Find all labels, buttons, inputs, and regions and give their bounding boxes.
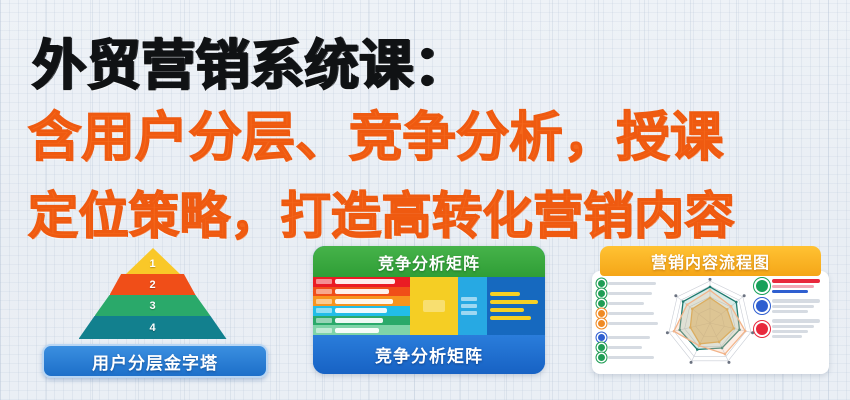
- headline-block: 外贸营销系统课： 含用户分层、竞争分析，授课 定位策略，打造高转化营销内容: [0, 0, 850, 240]
- radar-axis-marker: [709, 278, 712, 281]
- placeholder-text-bar: [608, 282, 656, 285]
- radar-list-item: [598, 310, 660, 317]
- matrix-blue-bar: [490, 316, 531, 320]
- matrix-row: [313, 296, 410, 306]
- legend-badge-icon: [756, 300, 768, 312]
- headline-line-1: 外贸营销系统课：: [32, 21, 468, 100]
- placeholder-text-bar: [608, 312, 654, 315]
- bullet-dot-icon: [598, 320, 605, 327]
- bullet-dot-icon: [598, 334, 605, 341]
- matrix-yellow-block: [423, 300, 445, 312]
- radar-axis-marker: [743, 294, 746, 297]
- matrix-row-tag: [316, 328, 332, 333]
- legend-badge-icon: [756, 280, 768, 292]
- placeholder-text-bar: [608, 346, 642, 349]
- matrix-blue-column: [487, 277, 545, 335]
- radar-header-title: 营销内容流程图: [600, 246, 821, 276]
- placeholder-text-bar: [608, 322, 658, 325]
- bullet-dot-icon: [598, 344, 605, 351]
- radar-list-item: [598, 334, 660, 341]
- legend-text-bars: [772, 319, 820, 338]
- radar-axis-marker: [690, 361, 693, 364]
- radar-axis-marker: [674, 294, 677, 297]
- matrix-row-bar: [335, 328, 379, 333]
- radar-data-point: [735, 301, 738, 304]
- bullet-dot-icon: [598, 280, 605, 287]
- card-marketing-flow[interactable]: 营销内容流程图: [592, 246, 829, 376]
- matrix-row-tag: [316, 289, 332, 294]
- radar-legend-list: [756, 279, 824, 342]
- radar-data-point: [709, 286, 712, 289]
- headline-line-3: 定位策略，打造高转化营销内容: [28, 176, 735, 248]
- placeholder-text-bar: [772, 285, 814, 288]
- matrix-cyan-line: [461, 297, 477, 301]
- card-user-pyramid[interactable]: 1 2 3 4 用户分层金字塔: [22, 244, 282, 396]
- matrix-row-bar: [335, 279, 395, 284]
- radar-legend-entry: [756, 279, 824, 293]
- matrix-row-tag: [316, 318, 332, 323]
- matrix-blue-bar: [490, 292, 520, 296]
- pyramid-caption-button[interactable]: 用户分层金字塔: [42, 344, 268, 378]
- pyramid-layer-1-label: 1: [149, 258, 157, 270]
- matrix-row: [313, 277, 410, 287]
- diagram-cards-row: 1 2 3 4 用户分层金字塔 竞争分析矩阵: [0, 240, 850, 400]
- placeholder-text-bar: [772, 290, 808, 293]
- matrix-row-tag: [316, 279, 332, 284]
- matrix-row-bar: [335, 308, 387, 313]
- matrix-row-bar: [335, 289, 389, 294]
- pyramid-layer-2: 2: [110, 274, 196, 295]
- placeholder-text-bar: [772, 335, 802, 338]
- radar-chart-svg: [660, 273, 760, 373]
- placeholder-text-bar: [608, 356, 654, 359]
- matrix-footer-title: 竞争分析矩阵: [313, 335, 545, 374]
- matrix-row-tag: [316, 308, 332, 313]
- placeholder-text-bar: [772, 305, 814, 308]
- radar-data-point: [673, 330, 676, 333]
- placeholder-text-bar: [772, 325, 814, 328]
- matrix-row-bar: [335, 299, 393, 304]
- radar-data-point: [709, 289, 712, 292]
- pyramid-layer-1: 1: [126, 248, 180, 274]
- pyramid-layer-4: 4: [79, 316, 227, 339]
- radar-list-item: [598, 300, 660, 307]
- matrix-blue-bar: [490, 308, 524, 312]
- radar-body: [592, 271, 829, 374]
- matrix-cyan-line: [461, 304, 477, 308]
- radar-left-list: [598, 280, 660, 361]
- legend-text-bars: [772, 299, 820, 313]
- legend-badge-icon: [756, 323, 768, 335]
- matrix-row: [313, 325, 410, 335]
- placeholder-text-bar: [772, 330, 808, 333]
- radar-data-point: [698, 344, 701, 347]
- matrix-yellow-column: [410, 277, 458, 335]
- matrix-row-tag: [316, 299, 332, 304]
- radar-data-point: [730, 305, 733, 308]
- radar-list-item: [598, 280, 660, 287]
- radar-data-point: [686, 303, 689, 306]
- bullet-dot-icon: [598, 310, 605, 317]
- radar-legend-entry: [756, 299, 824, 313]
- radar-axis-marker: [666, 331, 669, 334]
- legend-text-bars: [772, 279, 820, 293]
- radar-list-item: [598, 320, 660, 327]
- matrix-row: [313, 316, 410, 326]
- radar-axis-marker: [727, 361, 730, 364]
- bullet-dot-icon: [598, 300, 605, 307]
- placeholder-text-bar: [608, 302, 644, 305]
- placeholder-text-bar: [772, 319, 820, 323]
- radar-list-item: [598, 354, 660, 361]
- radar-list-item: [598, 290, 660, 297]
- radar-data-point: [724, 353, 727, 356]
- bullet-dot-icon: [598, 290, 605, 297]
- placeholder-text-bar: [608, 336, 650, 339]
- matrix-cyan-column: [458, 277, 487, 335]
- matrix-cyan-line: [461, 311, 477, 315]
- matrix-row-column: [313, 277, 410, 335]
- radar-data-point: [744, 330, 747, 333]
- radar-data-point: [696, 348, 699, 351]
- promo-banner: 外贸营销系统课： 含用户分层、竞争分析，授课 定位策略，打造高转化营销内容 1 …: [0, 0, 850, 400]
- radar-axis-marker: [751, 331, 754, 334]
- matrix-body: [313, 277, 545, 335]
- pyramid-graphic: 1 2 3 4: [80, 248, 225, 340]
- matrix-blue-bar: [490, 300, 538, 304]
- placeholder-text-bar: [772, 299, 820, 303]
- card-competition-matrix[interactable]: 竞争分析矩阵 竞争分析矩阵: [313, 246, 545, 374]
- matrix-header-title: 竞争分析矩阵: [313, 246, 545, 277]
- pyramid-layer-3: 3: [95, 295, 211, 316]
- radar-chart: [660, 273, 760, 373]
- placeholder-text-bar: [608, 292, 652, 295]
- matrix-row: [313, 287, 410, 297]
- matrix-row: [313, 306, 410, 316]
- placeholder-text-bar: [772, 279, 820, 283]
- matrix-row-bar: [335, 318, 383, 323]
- radar-list-item: [598, 344, 660, 351]
- bullet-dot-icon: [598, 354, 605, 361]
- headline-line-2: 含用户分层、竞争分析，授课: [28, 95, 724, 171]
- radar-legend-entry: [756, 319, 824, 338]
- placeholder-text-bar: [772, 310, 808, 313]
- radar-data-point: [682, 300, 685, 303]
